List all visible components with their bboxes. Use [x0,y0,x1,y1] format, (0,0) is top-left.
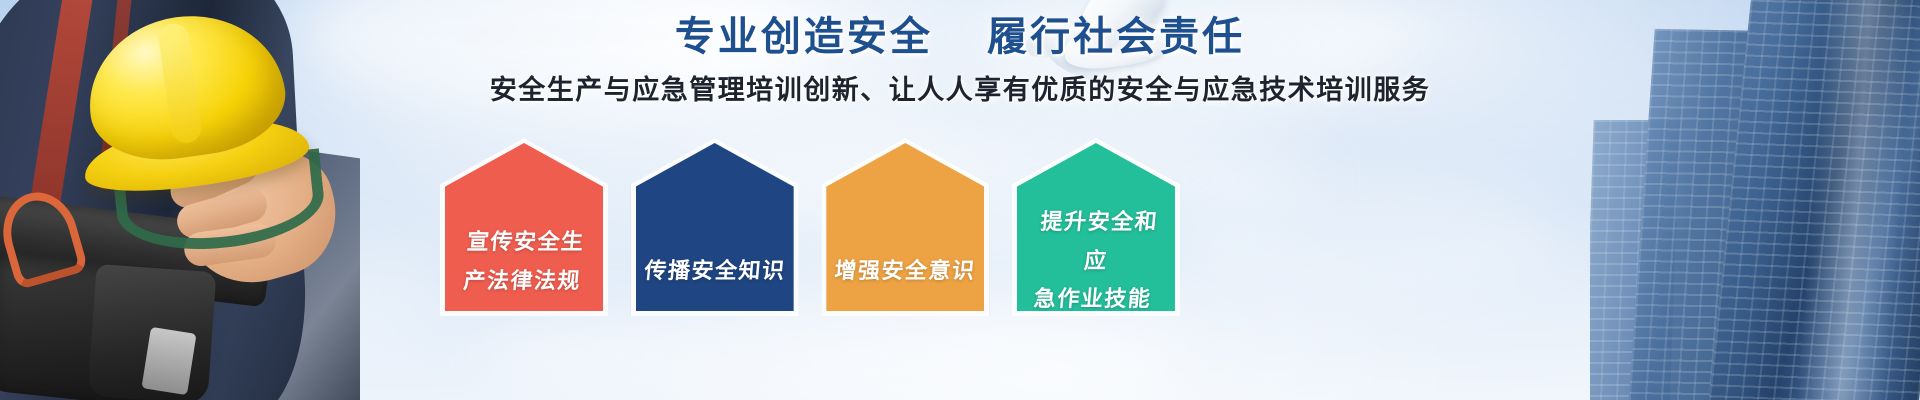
hexagon-card-row: 宣传安全生 产法律法规 传播安全知识 增强安全意识 提升安全和应 [440,138,1180,318]
hex-label-line-2: 急作业技能 [1027,280,1158,319]
headline-part-2: 履行社会责任 [987,15,1245,59]
hex-card-laws[interactable]: 宣传安全生 产法律法规 [440,138,608,316]
hex-label-line-1: 提升安全和应 [1040,209,1160,273]
hand-tool-icon [141,327,196,395]
hex-card-label: 提升安全和应 急作业技能 [1027,203,1165,319]
hex-card-label: 传播安全知识 [638,252,791,291]
banner-subtitle: 安全生产与应急管理培训创新、让人人享有优质的安全与应急技术培训服务 [0,68,1920,107]
hex-label-line-1: 传播安全知识 [643,258,786,283]
hex-card-skills[interactable]: 提升安全和应 急作业技能 [1012,138,1180,316]
banner-headline: 专业创造安全 履行社会责任 [0,4,1920,62]
hex-label-line-1: 宣传安全生 [466,229,586,254]
safety-training-banner: 专业创造安全 履行社会责任 安全生产与应急管理培训创新、让人人享有优质的安全与应… [0,0,1920,400]
hex-card-label: 宣传安全生 产法律法规 [457,223,592,300]
hex-card-awareness[interactable]: 增强安全意识 [821,138,989,316]
hex-card-knowledge[interactable]: 传播安全知识 [631,138,799,316]
cloud-wisp [1180,180,1560,300]
hex-label-line-1: 增强安全意识 [834,258,977,283]
hex-card-label: 增强安全意识 [829,252,982,291]
headline-part-1: 专业创造安全 [675,15,933,59]
hex-label-line-2: 产法律法规 [457,261,588,300]
